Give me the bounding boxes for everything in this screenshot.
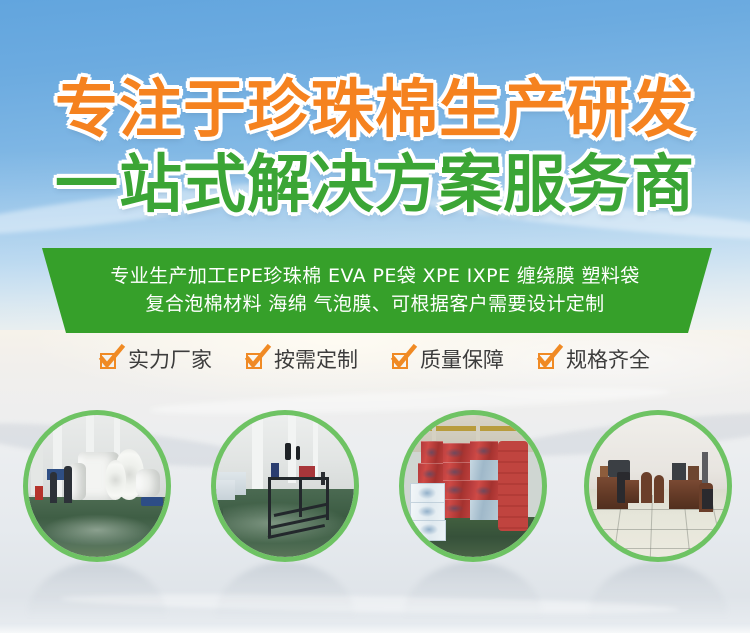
subbanner-line-2: 复合泡棉材料 海绵 气泡膜、可根据客户需要设计定制 bbox=[145, 292, 604, 317]
photo-reflection bbox=[588, 562, 728, 618]
headline-line-1: 专注于珍珠棉生产研发 bbox=[0, 72, 750, 147]
headline-line-2: 一站式解决方案服务商 bbox=[0, 147, 750, 222]
photo-reflection bbox=[27, 562, 167, 618]
checkbox-checked-icon bbox=[100, 351, 119, 370]
bottom-edge bbox=[0, 623, 750, 633]
photo-packaged-product-stacks[interactable] bbox=[399, 410, 547, 562]
feature-item-custom-made: 按需定制 bbox=[246, 348, 358, 372]
feature-label: 规格齐全 bbox=[566, 348, 650, 372]
photo-reflection bbox=[403, 562, 543, 618]
feature-label: 按需定制 bbox=[274, 348, 358, 372]
subbanner: 专业生产加工EPE珍珠棉 EVA PE袋 XPE IXPE 缠绕膜 塑料袋 复合… bbox=[0, 248, 750, 333]
feature-item-strength-factory: 实力厂家 bbox=[100, 348, 212, 372]
feature-label: 质量保障 bbox=[420, 348, 504, 372]
subbanner-line-1: 专业生产加工EPE珍珠棉 EVA PE袋 XPE IXPE 缠绕膜 塑料袋 bbox=[110, 264, 639, 289]
promo-banner: 专注于珍珠棉生产研发 一站式解决方案服务商 专业生产加工EPE珍珠棉 EVA P… bbox=[0, 0, 750, 633]
photo-gallery bbox=[0, 410, 750, 585]
photo-foam-roll-production-line[interactable] bbox=[23, 410, 171, 562]
feature-item-quality-assurance: 质量保障 bbox=[392, 348, 504, 372]
photo-office-interior[interactable] bbox=[584, 410, 732, 562]
checkbox-checked-icon bbox=[246, 351, 265, 370]
headline-block: 专注于珍珠棉生产研发 一站式解决方案服务商 bbox=[0, 72, 750, 222]
feature-item-full-specifications: 规格齐全 bbox=[538, 348, 650, 372]
photo-reflection bbox=[215, 562, 355, 618]
feature-label: 实力厂家 bbox=[128, 348, 212, 372]
feature-list: 实力厂家 按需定制 质量保障 bbox=[0, 338, 750, 382]
photo-warehouse-storage-rack[interactable] bbox=[211, 410, 359, 562]
checkbox-checked-icon bbox=[538, 351, 557, 370]
subbanner-text-block: 专业生产加工EPE珍珠棉 EVA PE袋 XPE IXPE 缠绕膜 塑料袋 复合… bbox=[0, 248, 750, 333]
checkbox-checked-icon bbox=[392, 351, 411, 370]
